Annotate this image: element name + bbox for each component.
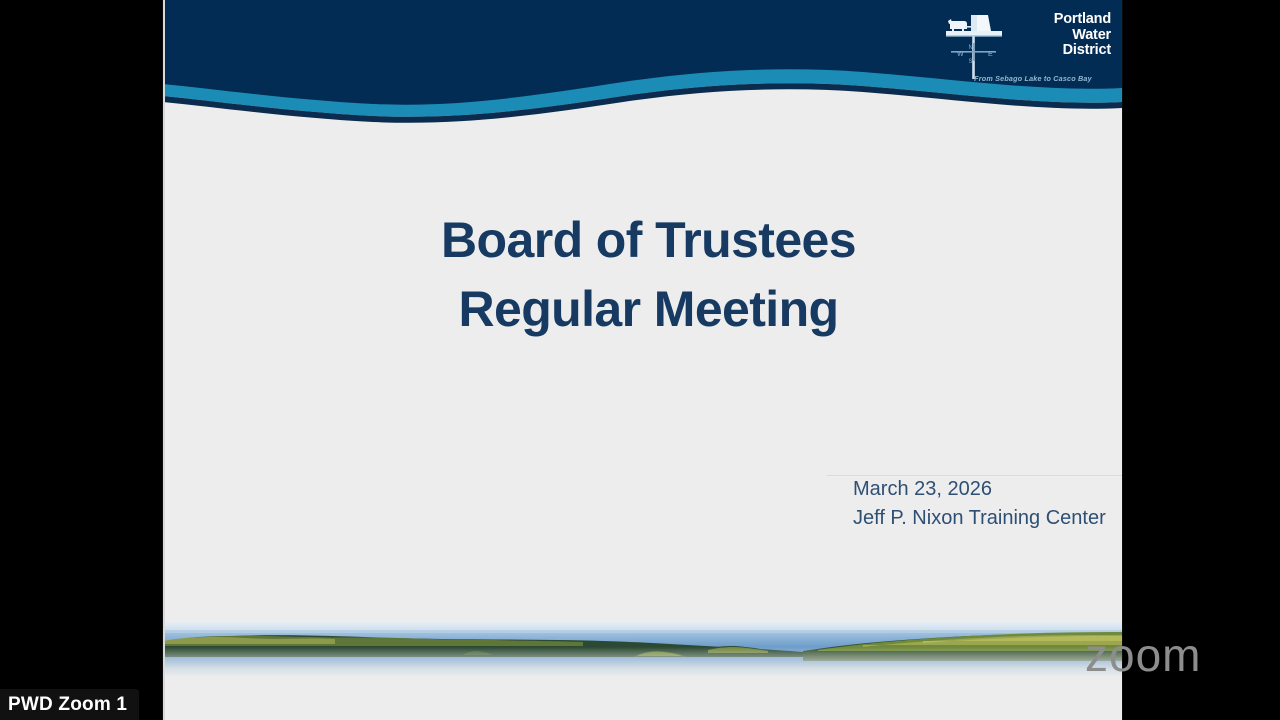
slide-title: Board of Trustees Regular Meeting — [163, 206, 1122, 344]
shared-screen-slide[interactable]: W E N S Portland — [163, 0, 1122, 720]
svg-text:W: W — [957, 51, 964, 58]
zoom-meeting-stage: W E N S Portland — [0, 0, 1280, 720]
logo-wordmark-line-1: Portland — [1010, 12, 1111, 28]
participant-name-label[interactable]: PWD Zoom 1 — [0, 689, 139, 720]
slide-meeting-meta: March 23, 2026 Jeff P. Nixon Training Ce… — [853, 475, 1122, 533]
svg-text:N: N — [969, 45, 973, 51]
slide-title-line-1: Board of Trustees — [175, 206, 1122, 275]
zoom-watermark: zoom — [1085, 632, 1201, 678]
meeting-date: March 23, 2026 — [853, 475, 1122, 504]
weathervane-icon: W E N S — [938, 7, 1010, 81]
meeting-location: Jeff P. Nixon Training Center — [853, 504, 1122, 533]
logo-wordmark-line-2: Water — [1010, 28, 1111, 44]
lake-shoreline-photo — [163, 621, 1122, 677]
logo-wordmark: Portland Water District — [1010, 12, 1113, 59]
slide-body: Board of Trustees Regular Meeting March … — [163, 136, 1122, 720]
logo-wordmark-line-3: District — [1010, 43, 1111, 59]
svg-text:E: E — [988, 51, 993, 58]
slide-title-line-2: Regular Meeting — [175, 275, 1122, 344]
svg-text:S: S — [969, 59, 973, 65]
logo-tagline: From Sebago Lake to Casco Bay — [948, 74, 1118, 83]
